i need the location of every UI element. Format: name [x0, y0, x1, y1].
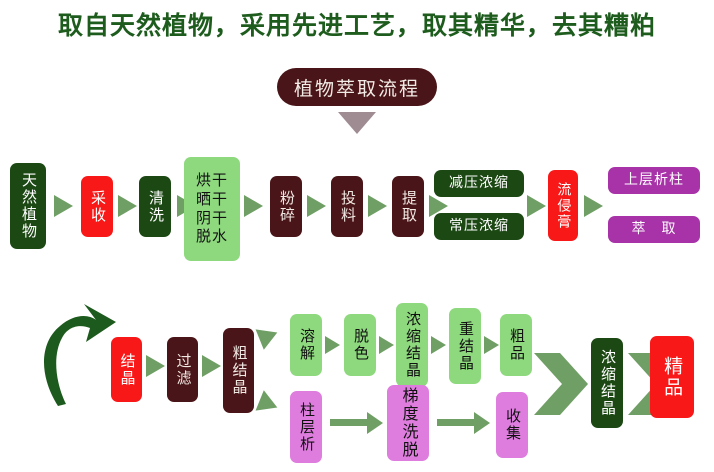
node-solvent-extraction[interactable]: 萃 取 — [608, 216, 700, 243]
flowchart-canvas: 取自天然植物，采用先进工艺，取其精华，去其糟粕 植物萃取流程 天然植物 采收 清… — [0, 0, 714, 472]
arrow-icon — [474, 412, 490, 434]
node-recrystallization[interactable]: 重结晶 — [449, 308, 481, 384]
arrow-shaft — [330, 419, 368, 426]
arrow-icon — [118, 195, 137, 217]
arrow-icon — [146, 355, 165, 377]
wrap-around-arrow-icon — [24, 300, 120, 410]
node-refined-product[interactable]: 精品 — [650, 336, 694, 418]
node-harvest[interactable]: 采收 — [81, 176, 113, 237]
node-concentration-crystal[interactable]: 浓缩结晶 — [396, 303, 428, 387]
node-filtration[interactable]: 过滤 — [167, 337, 198, 402]
arrow-icon — [484, 336, 499, 354]
merge-chevron-icon — [534, 347, 590, 421]
drying-line-1: 烘干 — [196, 172, 228, 190]
drying-line-2: 晒干 — [196, 191, 228, 209]
node-crystallization[interactable]: 结晶 — [111, 337, 142, 402]
node-fluid-extract[interactable]: 流侵膏 — [548, 170, 578, 241]
arrow-icon — [256, 322, 282, 350]
arrow-icon — [307, 195, 326, 217]
drying-line-4: 脱水 — [196, 228, 228, 246]
node-drying[interactable]: 烘干 晒干 阴干 脱水 — [184, 157, 240, 261]
node-crude-product[interactable]: 粗品 — [500, 314, 532, 376]
node-final-concentration[interactable]: 浓缩结晶 — [591, 338, 623, 428]
drying-line-3: 阴干 — [196, 210, 228, 228]
arrow-icon — [54, 195, 73, 217]
node-dissolving[interactable]: 溶解 — [290, 314, 322, 376]
arrow-icon — [368, 195, 387, 217]
arrow-icon — [244, 195, 263, 217]
node-vacuum-concentration[interactable]: 减压浓缩 — [434, 170, 524, 197]
arrow-icon — [367, 412, 383, 434]
node-normal-concentration[interactable]: 常压浓缩 — [434, 213, 524, 240]
node-crude-crystal[interactable]: 粗结晶 — [223, 328, 254, 413]
node-extraction[interactable]: 提取 — [392, 176, 424, 237]
arrow-icon — [202, 355, 221, 377]
arrow-icon — [431, 336, 446, 354]
arrow-icon — [325, 336, 340, 354]
node-collection[interactable]: 收集 — [496, 392, 528, 458]
page-title: 取自天然植物，采用先进工艺，取其精华，去其糟粕 — [0, 6, 714, 42]
node-decolorizing[interactable]: 脱色 — [344, 314, 376, 376]
node-feeding[interactable]: 投料 — [331, 176, 363, 237]
node-raw-material[interactable]: 天然植物 — [10, 163, 46, 249]
node-upper-column[interactable]: 上层析柱 — [608, 167, 700, 194]
node-pulverizing[interactable]: 粉碎 — [270, 176, 302, 237]
node-gradient-elution[interactable]: 梯度洗脱 — [387, 385, 429, 461]
process-badge: 植物萃取流程 — [277, 68, 437, 106]
arrow-icon — [527, 195, 546, 217]
badge-triangle-icon — [338, 112, 376, 134]
node-column-chromatography[interactable]: 柱层析 — [290, 391, 322, 463]
arrow-icon — [256, 390, 282, 418]
arrow-icon — [379, 336, 394, 354]
arrow-icon — [584, 195, 603, 217]
arrow-shaft — [437, 419, 475, 426]
node-washing[interactable]: 清洗 — [139, 176, 171, 237]
